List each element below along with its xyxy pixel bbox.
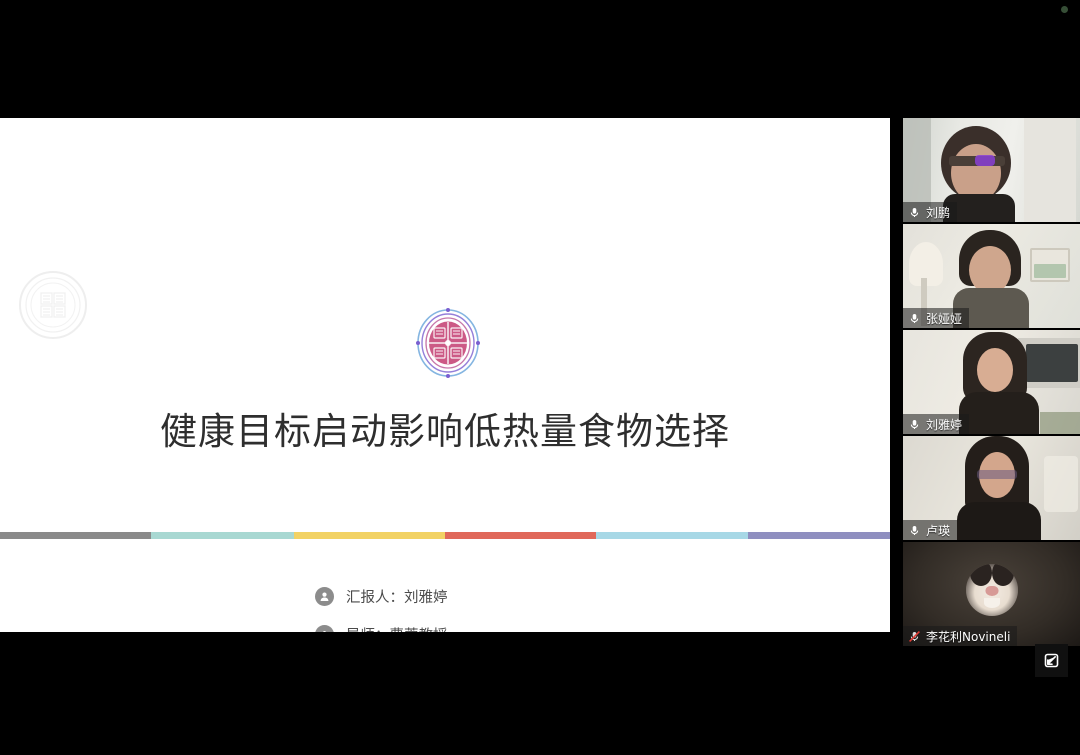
participant-tile[interactable]: 张娅娅 xyxy=(903,224,1080,328)
meeting-window: 健康目标启动影响低热量食物选择 xyxy=(0,0,1080,755)
divider-segment-3 xyxy=(294,532,445,539)
microphone-icon xyxy=(908,418,921,431)
participant-name-chip: 刘雅婷 xyxy=(903,414,969,434)
expand-arrow-icon xyxy=(1042,651,1061,670)
participant-tile[interactable]: 卢瑛 xyxy=(903,436,1080,540)
participant-name-chip: 卢瑛 xyxy=(903,520,957,540)
microphone-icon xyxy=(908,206,921,219)
meta-presenter-label: 汇报人：刘雅婷 xyxy=(346,586,448,607)
divider-segment-1 xyxy=(0,532,151,539)
participant-tile-active-speaker[interactable]: 刘雅婷 xyxy=(903,330,1080,434)
participant-tile[interactable]: 刘鹏 xyxy=(903,118,1080,222)
divider-segment-5 xyxy=(596,532,747,539)
expand-view-button[interactable] xyxy=(1035,644,1068,677)
participant-name-chip: 刘鹏 xyxy=(903,202,957,222)
participant-name-chip: 李花利Novineli xyxy=(903,626,1017,646)
microphone-icon xyxy=(908,524,921,537)
academy-circular-logo xyxy=(409,303,487,383)
participant-name: 刘雅婷 xyxy=(926,416,962,433)
microphone-icon xyxy=(315,625,334,633)
divider-segment-6 xyxy=(748,532,890,539)
page-title: 健康目标启动影响低热量食物选择 xyxy=(0,401,890,455)
microphone-icon xyxy=(908,312,921,325)
person-icon xyxy=(315,587,334,606)
divider-segment-2 xyxy=(151,532,293,539)
divider-segment-4 xyxy=(445,532,596,539)
shared-screen-slide[interactable]: 健康目标启动影响低热量食物选择 xyxy=(0,118,890,632)
participant-name: 卢瑛 xyxy=(926,522,950,539)
microphone-muted-icon xyxy=(908,630,921,643)
university-seal-watermark xyxy=(18,270,88,340)
avatar xyxy=(966,564,1018,616)
meta-advisor-label: 导师：曹蓉教授 xyxy=(346,624,448,633)
participant-video-rail: 刘鹏 xyxy=(903,118,1080,655)
color-divider-bar xyxy=(0,532,890,539)
notification-dot xyxy=(1061,6,1068,13)
participant-tile[interactable]: 李花利Novineli xyxy=(903,542,1080,646)
participant-name: 李花利Novineli xyxy=(926,628,1010,645)
participant-name: 张娅娅 xyxy=(926,310,962,327)
slide-meta-block: 汇报人：刘雅婷 导师：曹蓉教授 xyxy=(0,584,890,632)
meta-row-presenter: 汇报人：刘雅婷 xyxy=(315,584,575,608)
participant-name-chip: 张娅娅 xyxy=(903,308,969,328)
participant-name: 刘鹏 xyxy=(926,204,950,221)
meta-row-advisor: 导师：曹蓉教授 xyxy=(315,622,575,632)
